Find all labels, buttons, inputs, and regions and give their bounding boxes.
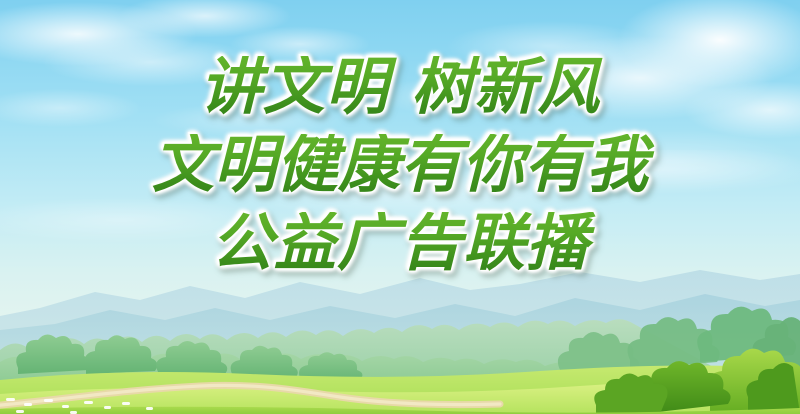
landscape-scene: [0, 264, 800, 414]
headline-block: 讲文明 树新风 文明健康有你有我 公益广告联播: [0, 56, 800, 274]
headline-line-3: 公益广告联播: [0, 212, 800, 274]
headline-line-2: 文明健康有你有我: [0, 134, 800, 196]
poster-canvas: 讲文明 树新风 文明健康有你有我 公益广告联播: [0, 0, 800, 414]
headline-line-1: 讲文明 树新风: [0, 56, 800, 118]
